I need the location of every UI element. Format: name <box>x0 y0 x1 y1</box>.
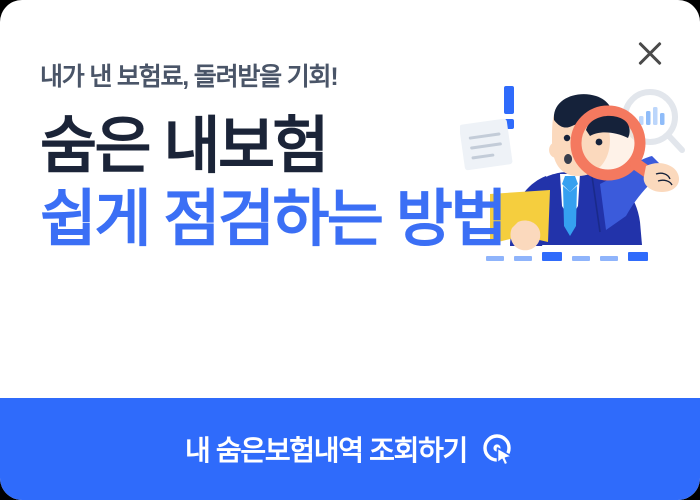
cta-button[interactable]: 내 숨은보험내역 조회하기 <box>0 398 700 500</box>
headline-group: 내가 낸 보험료, 돌려받을 기회! 숨은 내보험 쉽게 점검하는 방법 <box>40 62 505 254</box>
promo-banner: 내가 낸 보험료, 돌려받을 기회! 숨은 내보험 쉽게 점검하는 방법 <box>0 0 700 500</box>
headline-line-2: 쉽게 점검하는 방법 <box>40 187 505 254</box>
target-cursor-icon <box>481 432 515 466</box>
dashed-line <box>486 252 648 261</box>
person-hand <box>644 163 679 192</box>
banner-subtitle: 내가 낸 보험료, 돌려받을 기회! <box>40 62 505 92</box>
headline-line-1: 숨은 내보험 <box>40 114 505 181</box>
close-icon[interactable] <box>635 38 665 68</box>
cta-label: 내 숨은보험내역 조회하기 <box>185 429 467 469</box>
